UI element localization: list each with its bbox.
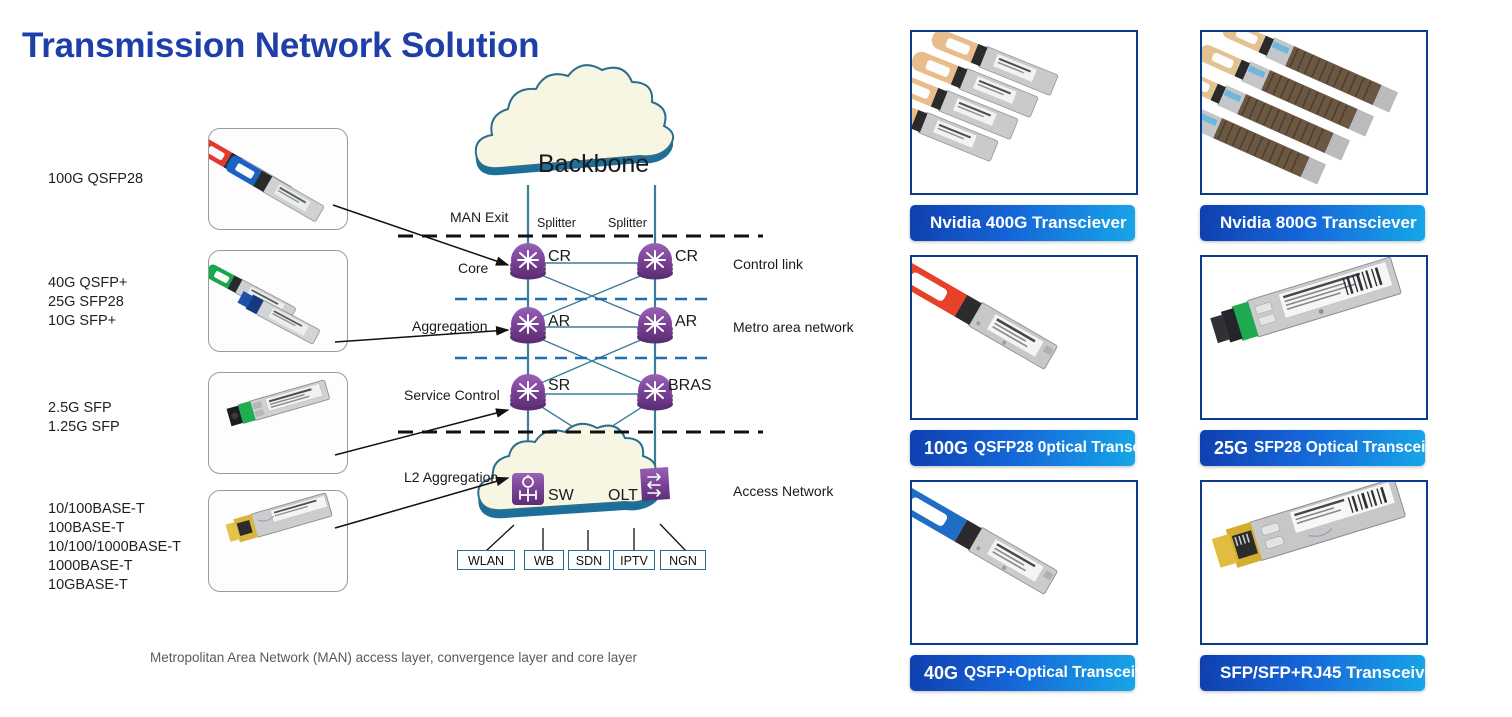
spec-line: 40G QSFP+ [48, 274, 127, 293]
service-tag-ngn[interactable]: NGN [660, 550, 706, 570]
router-cr-left [510, 243, 546, 280]
thumb-sfp-pair [208, 250, 348, 352]
label-metro-area-network: Metro area network [733, 319, 854, 335]
spec-line: 10/100/1000BASE-T [48, 538, 181, 557]
network-topology-diagram [0, 0, 900, 717]
product-banner-nvidia-400g[interactable]: Nvidia 400G Transciever [910, 205, 1135, 241]
link-cross-sr-olt [534, 402, 650, 476]
label-access-network: Access Network [733, 483, 833, 499]
label-tier-aggregation: Aggregation [412, 318, 488, 334]
product-image-frame [910, 480, 1138, 645]
product-image-frame [1200, 255, 1428, 420]
link-cross-bras-sw [534, 402, 650, 476]
spec-line: 25G SFP28 [48, 293, 127, 312]
spec-line: 10G SFP+ [48, 312, 127, 331]
label-node-cr-left: CR [548, 248, 571, 266]
product-image-frame [1200, 30, 1428, 195]
label-control-link: Control link [733, 256, 803, 272]
product-lead: 40G [924, 663, 958, 684]
product-image-nvidia-800g [1202, 32, 1426, 193]
product-image-100g-qsfp28 [912, 257, 1136, 418]
label-tier-core: Core [458, 260, 488, 276]
thumb-sfp-single [208, 372, 348, 474]
product-image-40g-qsfp [912, 482, 1136, 643]
link-service-wlan [486, 525, 514, 551]
label-splitter-left: Splitter [537, 216, 576, 230]
spec-line: 1000BASE-T [48, 557, 181, 576]
link-service-ngn [660, 524, 686, 551]
label-tier-l2-aggregation: L2 Aggregation [404, 469, 498, 485]
router-ar-right [637, 307, 673, 344]
spec-line: 2.5G SFP [48, 399, 120, 418]
node-sw-switch [512, 473, 544, 505]
product-banner-sfp-rj45[interactable]: SFP/SFP+RJ45 Transceiver [1200, 655, 1425, 691]
product-image-frame [1200, 480, 1428, 645]
product-label: SFP28 Optical Transceiver [1254, 439, 1449, 457]
spec-line: 1.25G SFP [48, 418, 120, 437]
spec-label-100g: 100G QSFP28 [48, 170, 143, 189]
product-label: Nvidia 400G Transciever [930, 213, 1127, 233]
product-banner-nvidia-800g[interactable]: Nvidia 800G Transciever [1200, 205, 1425, 241]
product-card-100g-qsfp28[interactable]: 100G QSFP28 0ptical Transceiver [910, 255, 1138, 465]
label-node-olt: OLT [608, 487, 638, 505]
router-sr [510, 374, 546, 411]
product-label: QSFP+Optical Transceiver [964, 664, 1158, 682]
product-card-nvidia-400g[interactable]: Nvidia 400G Transciever [910, 30, 1138, 240]
spec-line: 100BASE-T [48, 519, 181, 538]
router-ar-left [510, 307, 546, 344]
label-node-bras: BRAS [668, 377, 712, 395]
spec-label-baset: 10/100BASE-T 100BASE-T 10/100/1000BASE-T… [48, 500, 181, 595]
product-card-40g-qsfp[interactable]: 40G QSFP+Optical Transceiver [910, 480, 1138, 692]
thumb-qsfp28-image [209, 129, 348, 230]
product-image-frame [910, 30, 1138, 195]
cloud-backbone-label: Backbone [538, 150, 649, 179]
thumb-rj45-image [209, 491, 348, 592]
spec-line: 10GBASE-T [48, 576, 181, 595]
product-card-25g-sfp28[interactable]: 25G SFP28 Optical Transceiver [1200, 255, 1428, 465]
product-banner-40g-qsfp[interactable]: 40G QSFP+Optical Transceiver [910, 655, 1135, 691]
diagram-caption: Metropolitan Area Network (MAN) access l… [150, 650, 637, 665]
label-node-sw: SW [548, 487, 574, 505]
page-title: Transmission Network Solution [22, 26, 539, 66]
pointer-arrow-access [335, 478, 508, 528]
product-card-nvidia-800g[interactable]: Nvidia 800G Transciever [1200, 30, 1428, 240]
label-man-exit: MAN Exit [450, 209, 508, 225]
thumb-qsfp28 [208, 128, 348, 230]
product-image-nvidia-400g [912, 32, 1136, 193]
product-lead: 100G [924, 438, 968, 459]
node-olt [640, 467, 670, 501]
product-label: SFP/SFP+RJ45 Transceiver [1220, 663, 1441, 683]
product-image-frame [910, 255, 1138, 420]
spec-line: 10/100BASE-T [48, 500, 181, 519]
product-label: QSFP28 0ptical Transceiver [974, 439, 1177, 457]
service-tag-wlan[interactable]: WLAN [457, 550, 515, 570]
spec-label-sfp: 2.5G SFP 1.25G SFP [48, 399, 120, 437]
product-card-sfp-rj45[interactable]: SFP/SFP+RJ45 Transceiver [1200, 480, 1428, 692]
thumb-sfp-pair-image [209, 251, 348, 352]
label-node-ar-right: AR [675, 313, 697, 331]
spec-label-40g: 40G QSFP+ 25G SFP28 10G SFP+ [48, 274, 127, 331]
slide-root: Transmission Network Solution 100G QSFP2… [0, 0, 1512, 717]
spec-line: 100G QSFP28 [48, 170, 143, 189]
label-node-cr-right: CR [675, 248, 698, 266]
product-image-25g-sfp28 [1202, 257, 1426, 418]
thumb-sfp-single-image [209, 373, 348, 474]
thumb-rj45 [208, 490, 348, 592]
product-banner-25g-sfp28[interactable]: 25G SFP28 Optical Transceiver [1200, 430, 1425, 466]
label-node-ar-left: AR [548, 313, 570, 331]
product-image-sfp-rj45 [1202, 482, 1426, 643]
label-node-sr: SR [548, 377, 570, 395]
product-lead: 25G [1214, 438, 1248, 459]
pointer-arrow-service [335, 410, 508, 455]
label-splitter-right: Splitter [608, 216, 647, 230]
label-tier-service-control: Service Control [404, 387, 500, 403]
service-tag-iptv[interactable]: IPTV [613, 550, 655, 570]
router-cr-right [637, 243, 673, 280]
product-banner-100g-qsfp28[interactable]: 100G QSFP28 0ptical Transceiver [910, 430, 1135, 466]
product-label: Nvidia 800G Transciever [1220, 213, 1417, 233]
service-tag-sdn[interactable]: SDN [568, 550, 610, 570]
service-tag-wb[interactable]: WB [524, 550, 564, 570]
